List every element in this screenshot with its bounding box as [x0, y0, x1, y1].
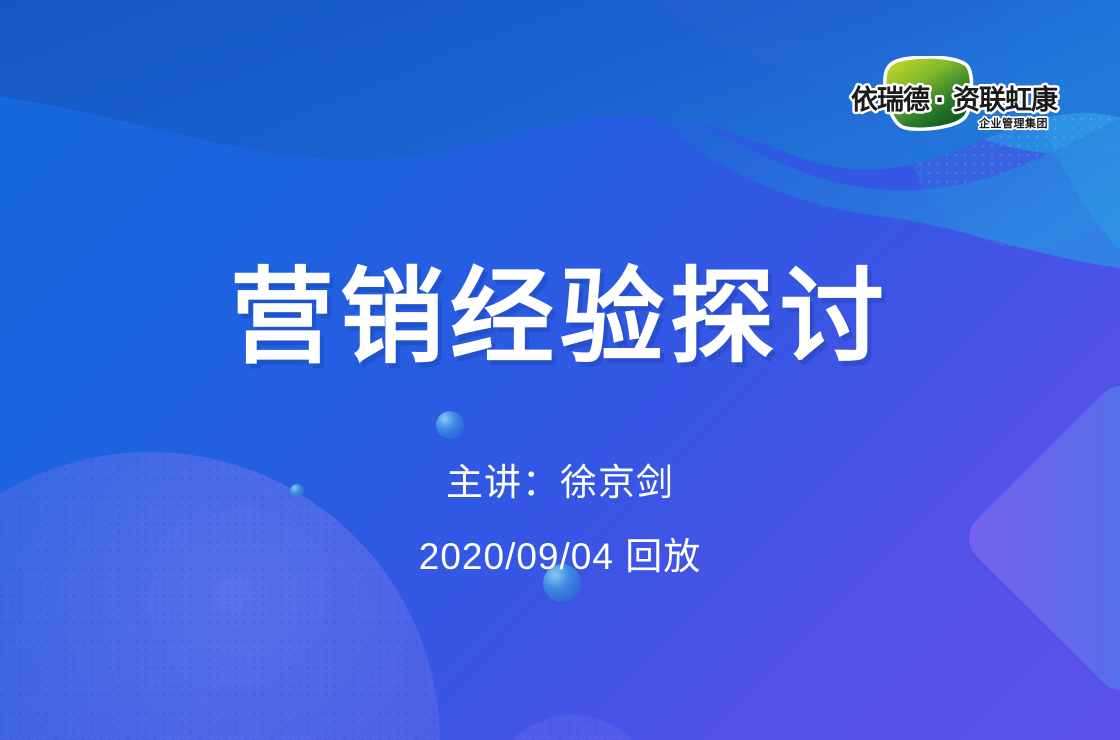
dotted-circle-bottom-center	[487, 715, 657, 740]
date-replay-line: 2020/09/04 回放	[0, 532, 1120, 582]
company-logo: 依瑞德 · 资联虹康 企业管理集团	[845, 56, 1065, 134]
svg-text:·: ·	[935, 86, 944, 114]
slide-title: 营销经验探讨	[0, 258, 1120, 376]
presentation-slide: 依瑞德 · 资联虹康 企业管理集团 营销经验探讨 主讲：徐京剑 2020/09/…	[0, 0, 1120, 740]
speaker-line: 主讲：徐京剑	[0, 458, 1120, 508]
logo-wordmark: 依瑞德 · 资联虹康	[851, 84, 1059, 116]
svg-text:企业管理集团: 企业管理集团	[978, 116, 1048, 130]
logo-tagline: 企业管理集团	[978, 116, 1048, 130]
svg-text:资联虹康: 资联虹康	[953, 84, 1059, 116]
sphere-small-1	[436, 411, 464, 439]
svg-text:依瑞德: 依瑞德	[851, 85, 930, 116]
